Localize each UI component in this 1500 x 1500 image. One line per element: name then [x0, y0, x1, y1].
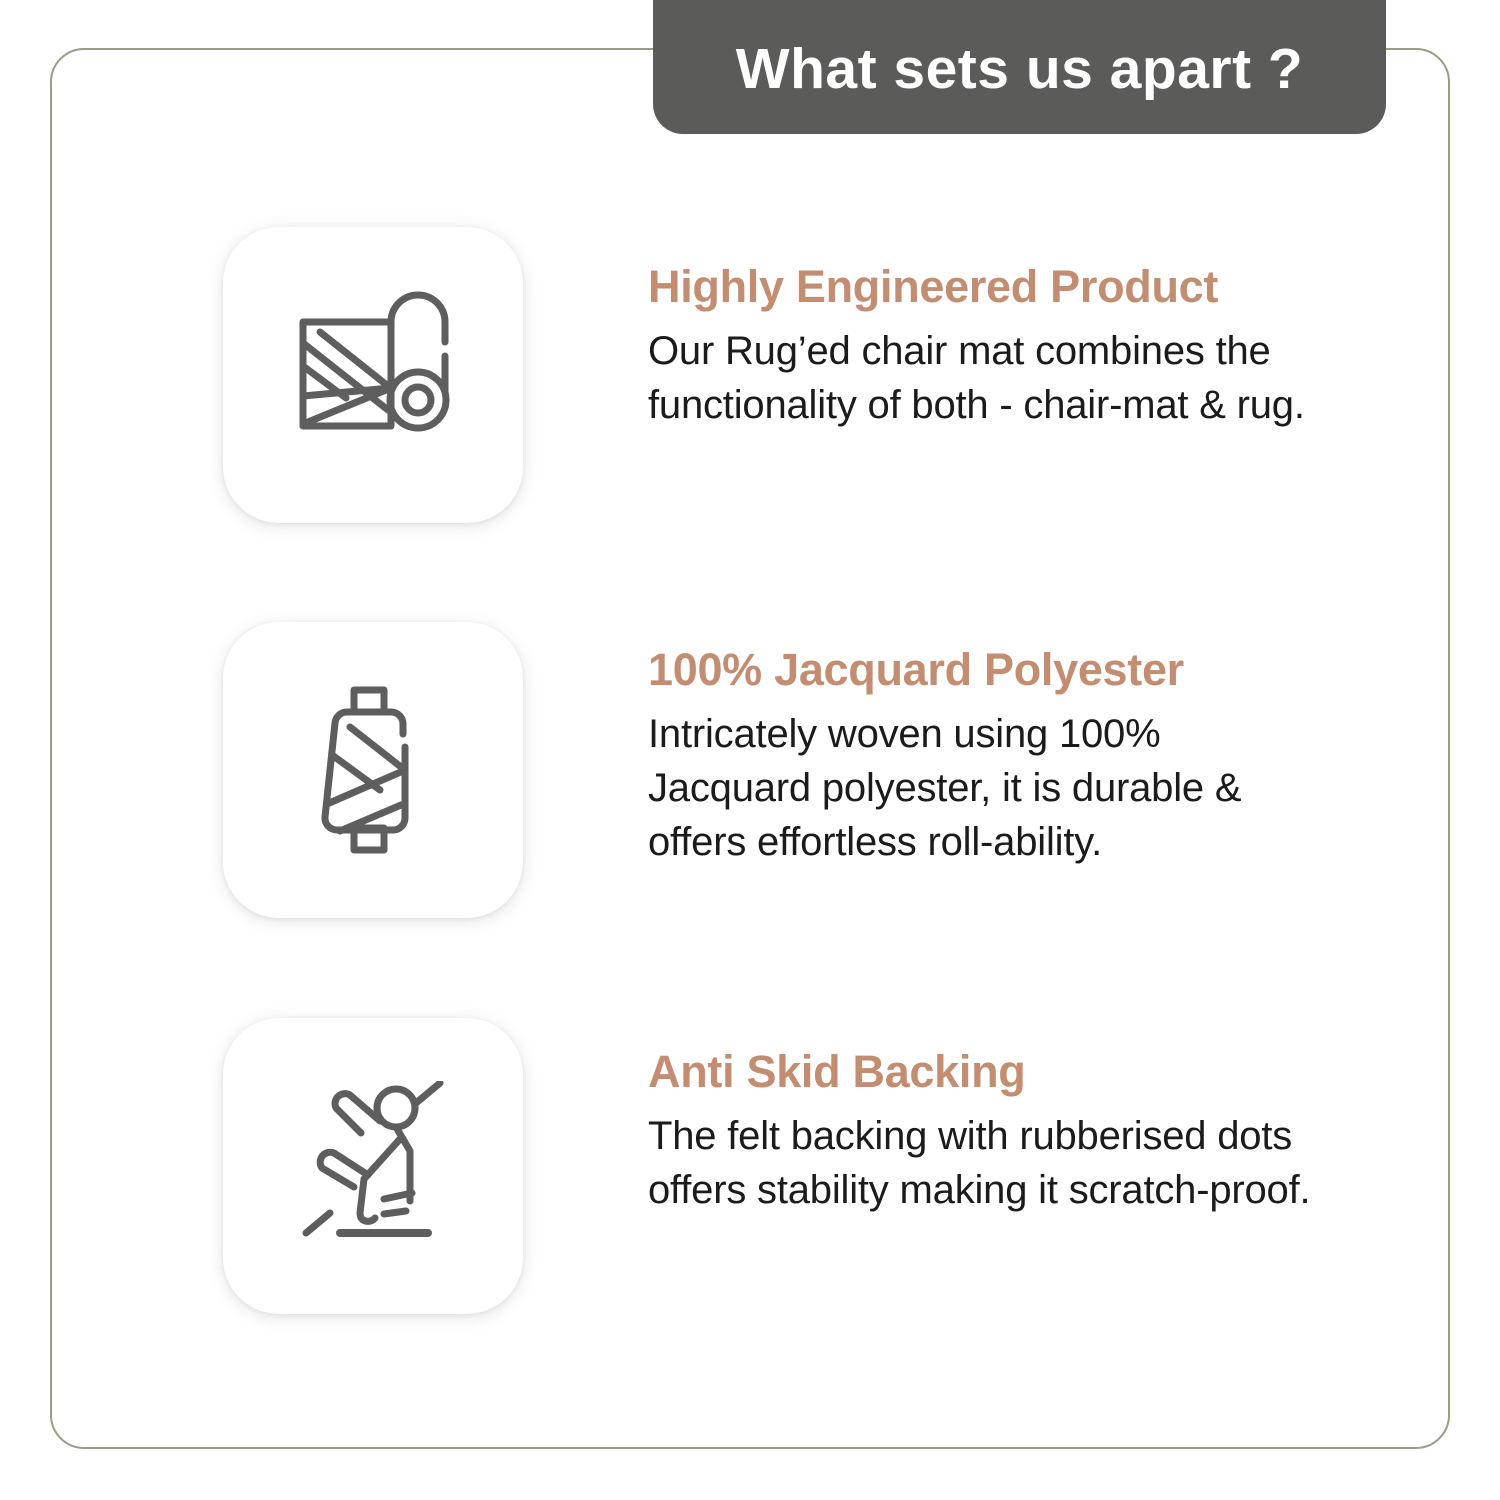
- feature-heading-2: 100% Jacquard Polyester: [648, 646, 1348, 693]
- slip-and-fall-icon: [288, 1081, 458, 1251]
- feature-body-3: The felt backing with rubberised dots of…: [648, 1109, 1328, 1217]
- banner-title: What sets us apart ?: [736, 31, 1303, 98]
- feature-text-2: 100% Jacquard Polyester Intricately wove…: [648, 646, 1348, 869]
- feature-text-1: Highly Engineered Product Our Rug’ed cha…: [648, 263, 1348, 432]
- feature-list: Highly Engineered Product Our Rug’ed cha…: [0, 0, 1500, 1500]
- feature-body-2: Intricately woven using 100% Jacquard po…: [648, 707, 1308, 869]
- thread-spool-icon: [288, 685, 458, 855]
- icon-card-1: [223, 227, 523, 523]
- feature-text-3: Anti Skid Backing The felt backing with …: [648, 1048, 1348, 1217]
- icon-card-3: [223, 1018, 523, 1314]
- feature-heading-3: Anti Skid Backing: [648, 1048, 1348, 1095]
- feature-body-1: Our Rug’ed chair mat combines the functi…: [648, 324, 1308, 432]
- header-banner: What sets us apart ?: [653, 0, 1386, 134]
- infographic-page: What sets us apart ?: [0, 0, 1500, 1500]
- feature-heading-1: Highly Engineered Product: [648, 263, 1348, 310]
- icon-card-2: [223, 622, 523, 918]
- rolled-rug-mat-icon: [288, 290, 458, 460]
